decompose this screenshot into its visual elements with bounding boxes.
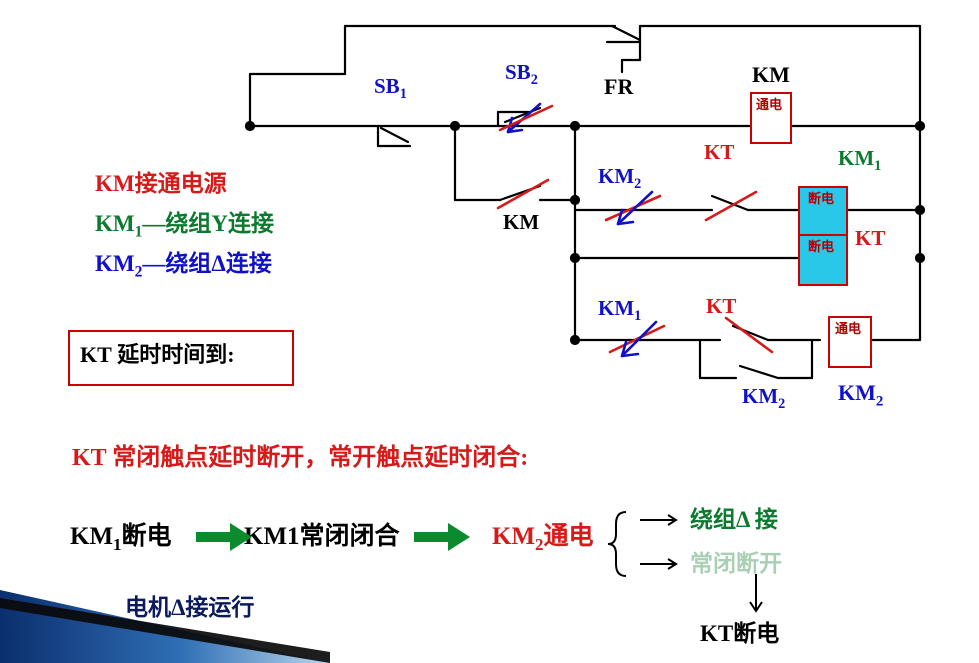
- diagram-stage: 通电 断电 断电 通电 SB1 SB2 FR KM KM KM2 KT KM1 …: [0, 0, 979, 663]
- ribbon-label: 电机Δ接运行: [125, 596, 254, 619]
- flow-arrows: [0, 0, 979, 663]
